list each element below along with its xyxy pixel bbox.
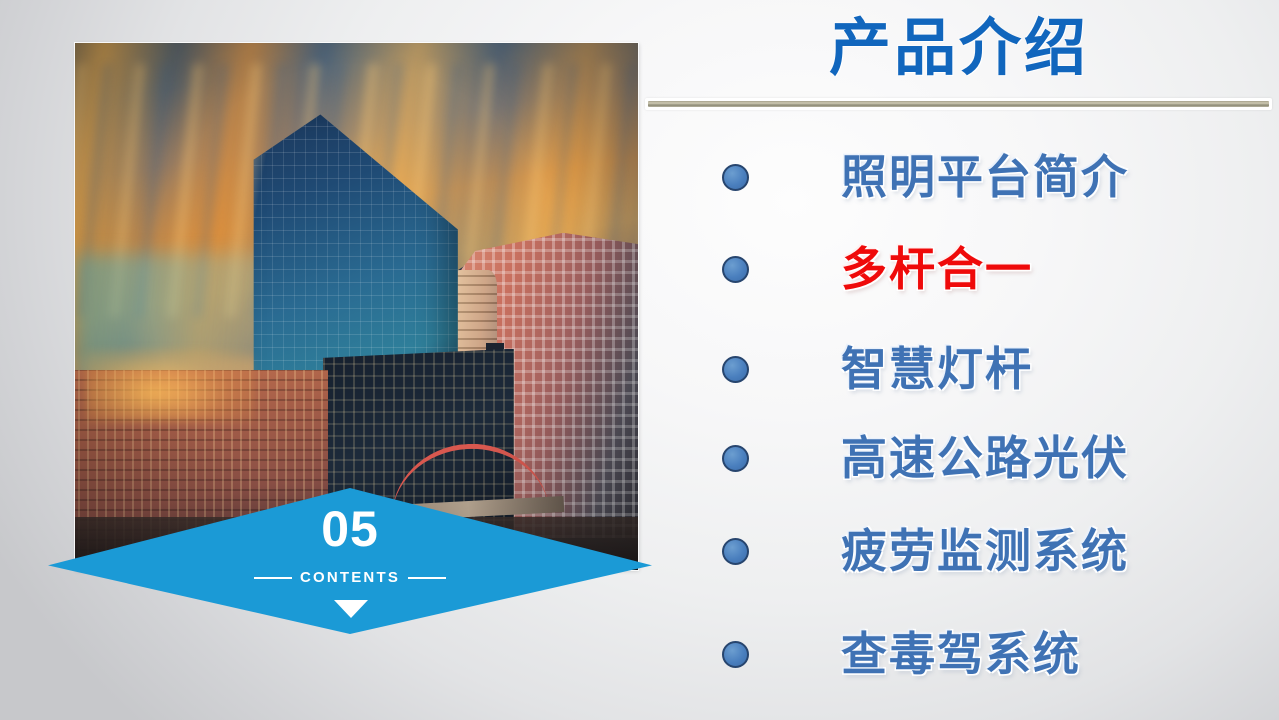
contents-number: 05 [0,504,700,554]
page-title: 产品介绍 [645,6,1273,90]
product-topic-list: 照明平台简介 多杆合一 智慧灯杆 高速公路光伏 疲劳监测系统 查毒驾系统 [645,130,1279,715]
bullet-dot-icon [722,445,749,472]
list-item[interactable]: 多杆合一 [645,238,1279,300]
list-item[interactable]: 查毒驾系统 [645,623,1279,685]
list-item-label: 智慧灯杆 [841,346,1033,392]
title-divider-bar [645,98,1272,110]
list-item-label: 照明平台简介 [841,154,1129,200]
down-triangle-icon [334,600,368,618]
list-item-label: 查毒驾系统 [841,631,1081,677]
bullet-dot-icon [722,356,749,383]
contents-label: CONTENTS [300,570,400,585]
contents-rule-right [408,577,446,579]
contents-label-group: CONTENTS [0,570,700,585]
bullet-dot-icon [722,538,749,565]
title-divider-inner [648,101,1269,107]
list-item-label: 疲劳监测系统 [841,528,1129,574]
bullet-dot-icon [722,641,749,668]
bullet-dot-icon [722,256,749,283]
list-item-label: 多杆合一 [841,246,1033,292]
list-item[interactable]: 智慧灯杆 [645,338,1279,400]
bullet-dot-icon [722,164,749,191]
list-item[interactable]: 高速公路光伏 [645,427,1279,489]
presentation-slide: 05 CONTENTS 产品介绍 照明平台简介 多杆合一 智慧灯杆 高速公路光伏 [0,0,1279,720]
contents-rule-left [254,577,292,579]
list-item[interactable]: 疲劳监测系统 [645,520,1279,582]
list-item-label: 高速公路光伏 [841,435,1129,481]
list-item[interactable]: 照明平台简介 [645,146,1279,208]
